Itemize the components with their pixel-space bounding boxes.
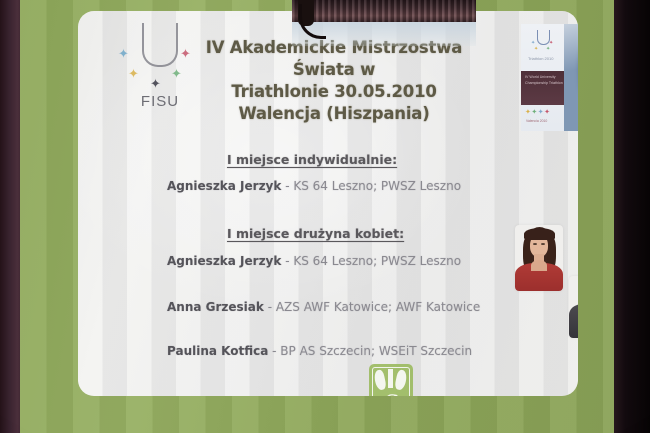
fisu-star-yellow: ✦ [128,67,139,80]
torso-shape [569,304,578,338]
result-line-team-3: Paulina Kotfica - BP AS Szczecin; WSEiT … [167,344,472,358]
poster-star-row: ✦✦✦✦ [525,108,551,116]
azs-letter-s: S [384,390,399,396]
athlete-name: Agnieszka Jerzyk [167,254,281,268]
chest-skin [531,260,547,271]
poster-card-caption: Triathlon 2010 [528,56,553,62]
fisu-u-mark [142,23,178,67]
athlete-clubs: - KS 64 Leszno; PWSZ Leszno [281,179,461,193]
poster-star-3: ✦ [534,47,538,52]
result-line-team-2: Anna Grzesiak - AZS AWF Katowice; AWF Ka… [167,300,480,314]
slide-title-line-3: Walencja (Hiszpania) [174,103,494,125]
athlete-name: Paulina Kotfica [167,344,268,358]
azs-logo: ASZ [369,364,413,396]
section-heading-team: I miejsce drużyna kobiet: [227,226,404,241]
result-line-individual-1: Agnieszka Jerzyk - KS 64 Leszno; PWSZ Le… [167,179,461,193]
slide-title-line-2: Triathlonie 30.05.2010 [174,81,494,103]
poster-athlete-photo [564,24,578,131]
wall-right-strip [612,0,650,433]
poster-footer-caption: Valencia 2010 [526,119,547,123]
poster-logo-card: ✦ ✦ ✦ ✦ Triathlon 2010 IV World Universi… [521,24,564,131]
athlete-portrait-woman-red-top [515,225,563,291]
eye-left [533,243,537,245]
poster-dark-band: IV World University Championship Triathl… [521,71,564,105]
slide-white-area: ✦ ✦ ✦ ✦ ✦ FISU ✦ ✦ ✦ ✦ Triathlon 201 [78,11,578,396]
poster-fisu-mark: ✦ ✦ ✦ ✦ [529,30,555,52]
event-poster: ✦ ✦ ✦ ✦ Triathlon 2010 IV World Universi… [521,24,578,131]
slide-title: IV Akademickie Mistrzostwa Świata w Tria… [174,37,494,125]
hair-fringe [524,228,555,240]
projected-slide-photograph: ✦ ✦ ✦ ✦ ✦ FISU ✦ ✦ ✦ ✦ Triathlon 201 [0,0,650,433]
poster-band-caption: IV World University Championship Triathl… [525,74,564,86]
athlete-clubs: - BP AS Szczecin; WSEiT Szczecin [268,344,472,358]
result-line-team-1: Agnieszka Jerzyk - KS 64 Leszno; PWSZ Le… [167,254,461,268]
athlete-clubs: - AZS AWF Katowice; AWF Katowice [264,300,480,314]
wall-left-strip [0,0,22,433]
fisu-star-blue: ✦ [118,47,129,60]
projection-screen: ✦ ✦ ✦ ✦ ✦ FISU ✦ ✦ ✦ ✦ Triathlon 201 [20,0,614,433]
section-heading-individual: I miejsce indywidualnie: [227,152,397,167]
athlete-name: Agnieszka Jerzyk [167,179,281,193]
azs-letters: ASZ [369,390,413,396]
eye-right [541,243,545,245]
athlete-clubs: - KS 64 Leszno; PWSZ Leszno [281,254,461,268]
fisu-star-black: ✦ [150,77,161,90]
athlete-portrait-woman-dark-jacket [569,276,578,338]
poster-star-4: ✦ [546,47,550,52]
athlete-name: Anna Grzesiak [167,300,264,314]
azs-center-bar [388,369,393,388]
